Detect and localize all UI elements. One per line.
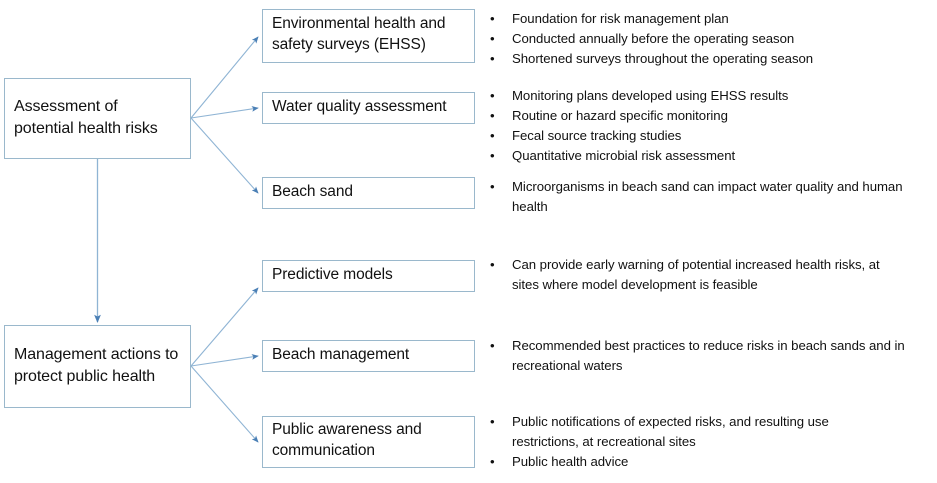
bullet-text: Public health advice	[512, 452, 890, 472]
bullet-text: Recommended best practices to reduce ris…	[512, 336, 926, 376]
node-label: Public awareness and communication	[272, 420, 465, 461]
flow-diagram: Assessment of potential health risks Man…	[0, 0, 937, 483]
bullet-dot-icon: •	[490, 49, 512, 69]
bullet-item: •Can provide early warning of potential …	[490, 255, 900, 295]
bullet-item: •Routine or hazard specific monitoring	[490, 106, 930, 126]
node-public-awareness-and-communication[interactable]: Public awareness and communication	[262, 416, 475, 468]
node-label: Management actions to protect public hea…	[14, 344, 181, 387]
bullet-item: •Fecal source tracking studies	[490, 126, 930, 146]
bullet-dot-icon: •	[490, 255, 512, 275]
bullets-beach-management: •Recommended best practices to reduce ri…	[490, 336, 926, 376]
bullet-dot-icon: •	[490, 9, 512, 29]
bullet-text: Shortened surveys throughout the operati…	[512, 49, 930, 69]
connector-layer	[0, 0, 937, 483]
node-assessment-of-potential-health-risks[interactable]: Assessment of potential health risks	[4, 78, 191, 159]
bullet-item: •Recommended best practices to reduce ri…	[490, 336, 926, 376]
bullets-water-quality: •Monitoring plans developed using EHSS r…	[490, 86, 930, 166]
bullet-item: •Public notifications of expected risks,…	[490, 412, 890, 452]
bullet-dot-icon: •	[490, 126, 512, 146]
bullet-text: Fecal source tracking studies	[512, 126, 930, 146]
bullet-item: •Microorganisms in beach sand can impact…	[490, 177, 910, 217]
connector-assessment-to-ehss	[191, 37, 258, 118]
node-predictive-models[interactable]: Predictive models	[262, 260, 475, 292]
connector-assessment-to-water-quality	[191, 108, 258, 118]
node-label: Beach management	[272, 345, 409, 366]
node-label: Environmental health and safety surveys …	[272, 14, 465, 55]
node-beach-sand[interactable]: Beach sand	[262, 177, 475, 209]
node-environmental-health-and-safety-surveys[interactable]: Environmental health and safety surveys …	[262, 9, 475, 63]
node-label: Predictive models	[272, 265, 393, 286]
bullet-text: Conducted annually before the operating …	[512, 29, 930, 49]
bullets-public-awareness: •Public notifications of expected risks,…	[490, 412, 890, 472]
bullet-dot-icon: •	[490, 106, 512, 126]
node-beach-management[interactable]: Beach management	[262, 340, 475, 372]
bullet-text: Routine or hazard specific monitoring	[512, 106, 930, 126]
bullet-item: •Foundation for risk management plan	[490, 9, 930, 29]
connector-management-to-beach-management	[191, 356, 258, 366]
bullet-dot-icon: •	[490, 412, 512, 432]
bullets-ehss: •Foundation for risk management plan•Con…	[490, 9, 930, 69]
bullet-dot-icon: •	[490, 146, 512, 166]
connector-management-to-predictive-models	[191, 288, 258, 366]
bullets-beach-sand: •Microorganisms in beach sand can impact…	[490, 177, 910, 217]
bullet-dot-icon: •	[490, 336, 512, 356]
bullet-dot-icon: •	[490, 29, 512, 49]
bullet-item: •Quantitative microbial risk assessment	[490, 146, 930, 166]
bullet-text: Foundation for risk management plan	[512, 9, 930, 29]
bullet-dot-icon: •	[490, 86, 512, 106]
bullet-item: •Public health advice	[490, 452, 890, 472]
bullet-dot-icon: •	[490, 177, 512, 197]
bullet-text: Can provide early warning of potential i…	[512, 255, 900, 295]
connector-management-to-public-awareness	[191, 366, 258, 442]
node-water-quality-assessment[interactable]: Water quality assessment	[262, 92, 475, 124]
bullet-item: •Shortened surveys throughout the operat…	[490, 49, 930, 69]
bullet-dot-icon: •	[490, 452, 512, 472]
bullet-text: Microorganisms in beach sand can impact …	[512, 177, 910, 217]
bullets-predictive-models: •Can provide early warning of potential …	[490, 255, 900, 295]
bullet-item: •Monitoring plans developed using EHSS r…	[490, 86, 930, 106]
node-label: Water quality assessment	[272, 97, 446, 118]
bullet-text: Monitoring plans developed using EHSS re…	[512, 86, 930, 106]
node-label: Beach sand	[272, 182, 353, 203]
node-label: Assessment of potential health risks	[14, 96, 181, 139]
connector-assessment-to-beach-sand	[191, 118, 258, 193]
bullet-item: •Conducted annually before the operating…	[490, 29, 930, 49]
node-management-actions-to-protect-public-health[interactable]: Management actions to protect public hea…	[4, 325, 191, 408]
bullet-text: Public notifications of expected risks, …	[512, 412, 890, 452]
bullet-text: Quantitative microbial risk assessment	[512, 146, 930, 166]
